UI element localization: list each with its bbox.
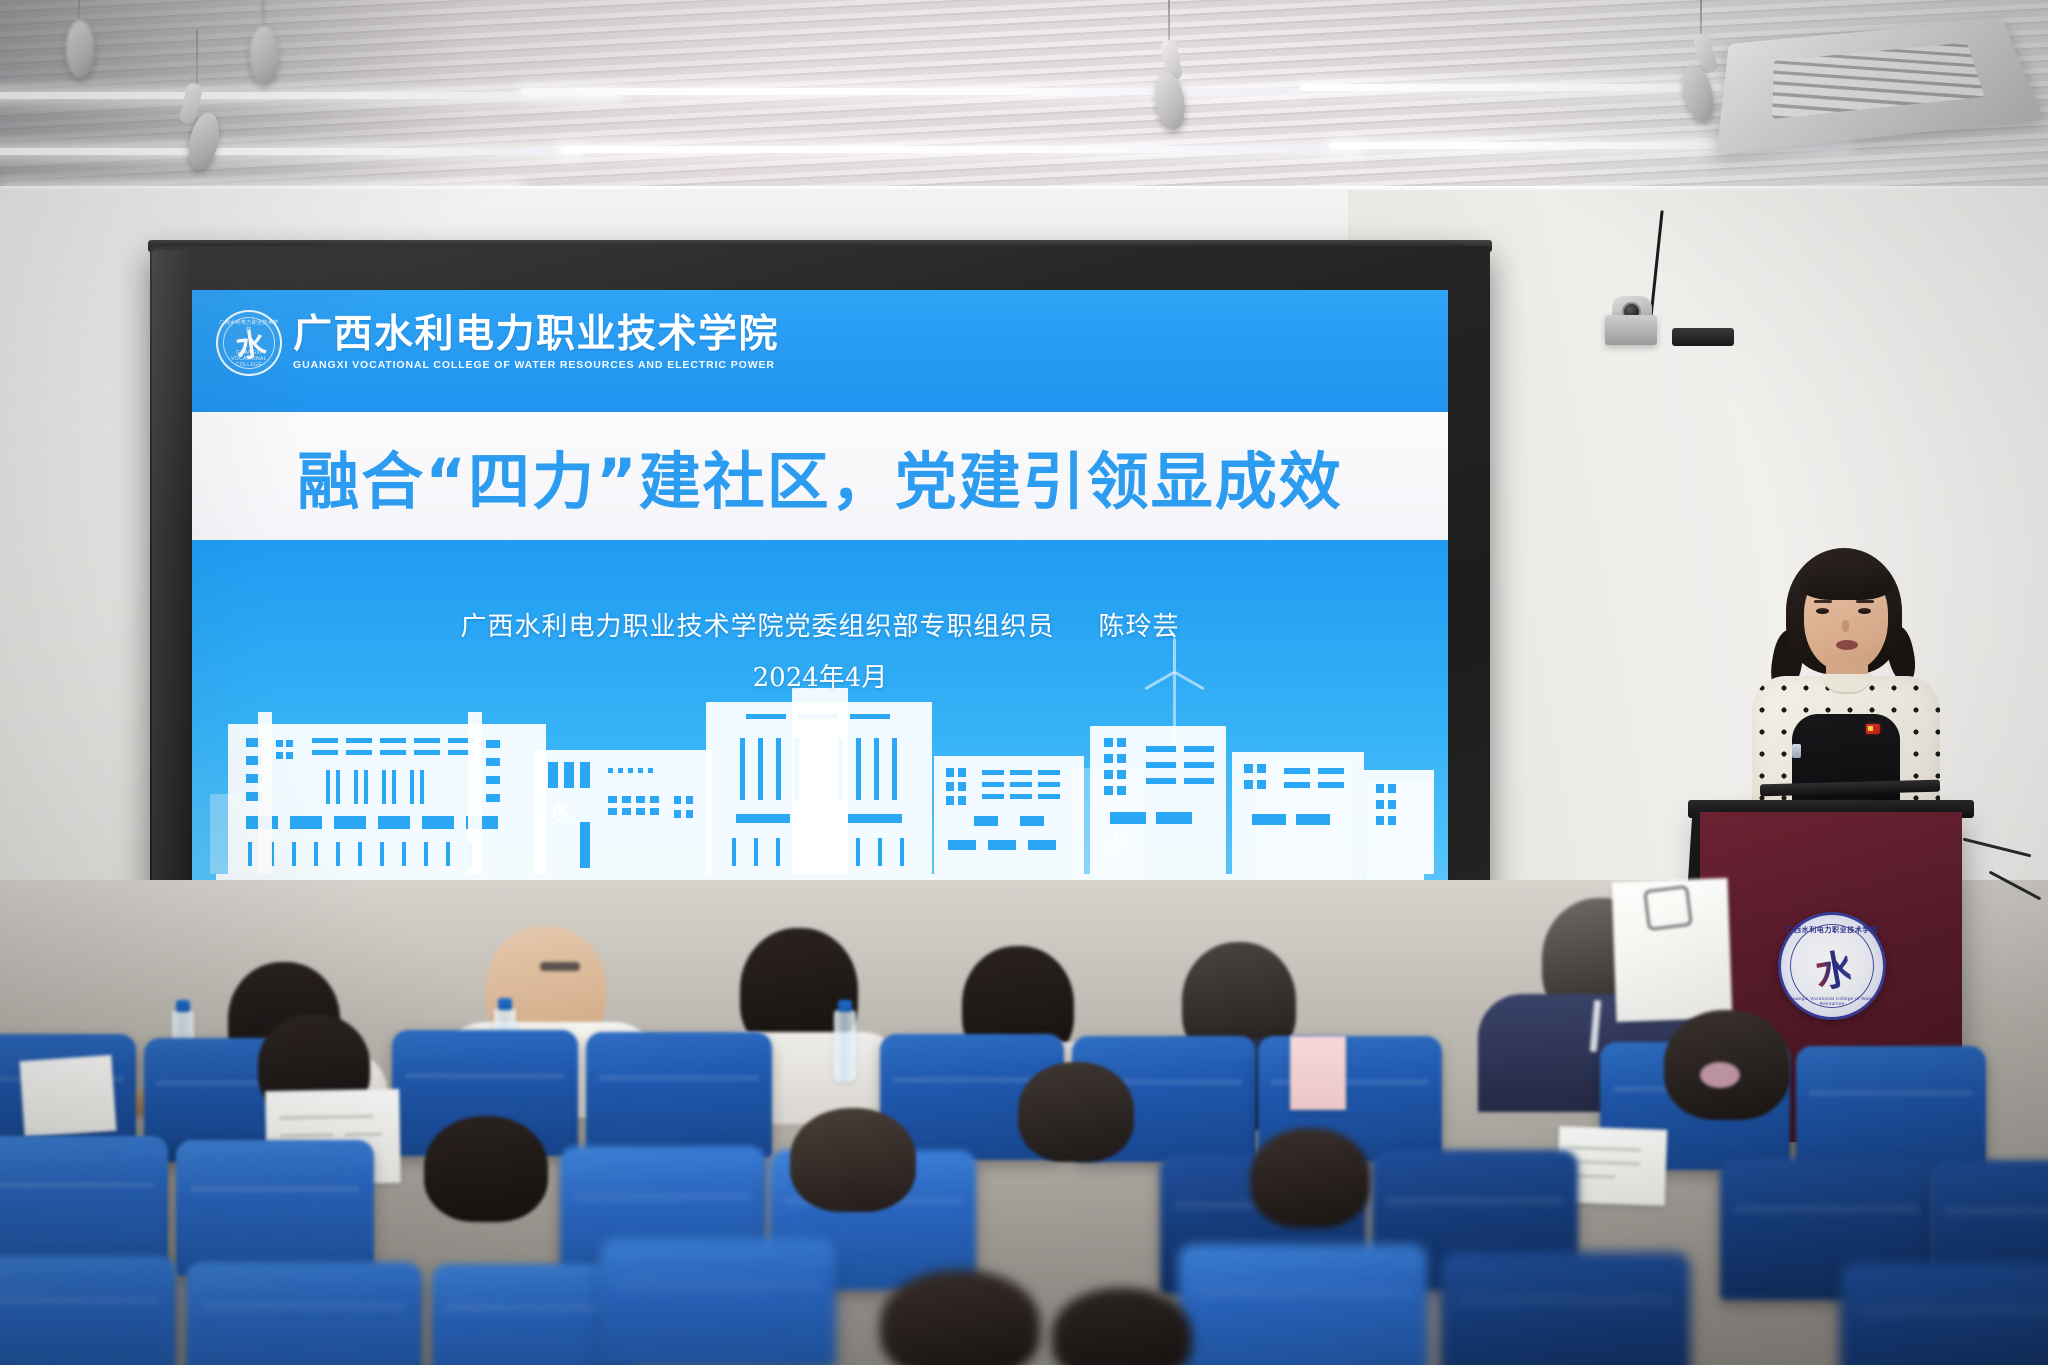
handout-paper (19, 1055, 116, 1137)
party-emblem-pin-icon (1866, 724, 1880, 734)
presenter-person (1742, 548, 1950, 816)
drawing-outline (1644, 885, 1693, 930)
eye (1858, 608, 1871, 614)
hanging-speaker (66, 20, 94, 78)
mouth (1836, 640, 1858, 650)
building-logo-glyph: 水 (1104, 825, 1126, 859)
campus-building (228, 724, 546, 874)
auditorium-seat[interactable] (0, 1136, 168, 1272)
ceiling-strip-light (560, 146, 1360, 153)
campus-building: 水 (1090, 726, 1226, 874)
campus-building (1232, 752, 1364, 874)
campus-building: 水 (534, 750, 712, 874)
display-glare (152, 250, 192, 918)
nose (1842, 620, 1849, 632)
school-seal-icon: 广西水利电力职业技术学院 水 GUANGXI VOCATIONAL COLLEG… (216, 310, 282, 376)
emblem-glyph: 水 (1810, 937, 1854, 1000)
school-name-block: 广西水利电力职业技术学院 GUANGXI VOCATIONAL COLLEGE … (293, 315, 779, 371)
hair-clip (1700, 1062, 1740, 1088)
lecture-hall-scene: 水 (0, 0, 2048, 1365)
presentation-slide: 水 (192, 290, 1448, 888)
slide-subtitle-block: 广西水利电力职业技术学院党委组织部专职组织员陈玲芸 2024年4月 (192, 606, 1448, 694)
campus-skyline-illustration: 水 (192, 662, 1448, 888)
auditorium-seat[interactable] (600, 1238, 836, 1365)
roof-turret (258, 712, 272, 874)
lapel-microphone-icon (1792, 744, 1801, 758)
hanging-speaker (250, 26, 278, 84)
pendant-wire (1168, 0, 1170, 44)
seal-arc-bottom-text: GUANGXI VOCATIONAL COLLEGE (218, 350, 280, 368)
ceiling-strip-light (0, 148, 580, 155)
emblem-arc-en-text: Guangxi Vocational College of Water Reso… (1781, 996, 1883, 1006)
eye (1816, 608, 1829, 614)
water-bottle (834, 1010, 856, 1082)
auditorium-seat[interactable] (1440, 1252, 1690, 1365)
attendee-head (1250, 1128, 1370, 1228)
slide-brand-header: 广西水利电力职业技术学院 水 GUANGXI VOCATIONAL COLLEG… (216, 310, 779, 376)
auditorium-seat[interactable] (586, 1032, 772, 1158)
hall-roof-peak (792, 688, 848, 874)
eyeglasses-icon (540, 962, 580, 971)
colored-paper (1290, 1036, 1346, 1110)
roof-turret (468, 712, 482, 874)
ceiling-microphone-bar (1672, 328, 1734, 346)
building-logo-glyph: 水 (546, 793, 568, 827)
slide-title-text: 融合“四力”建社区，党建引领显成效 (297, 431, 1343, 521)
auditorium-seat[interactable] (0, 1256, 176, 1365)
slatted-ceiling (0, 0, 2048, 196)
presenter-affiliation: 广西水利电力职业技术学院党委组织部专职组织员 (460, 612, 1054, 642)
ptz-camera-mount (1605, 315, 1657, 345)
eyebrow (1814, 600, 1832, 603)
college-emblem-icon: 广西水利电力职业技术学院 水 Guangxi Vocational Colleg… (1778, 912, 1886, 1020)
campus-building (1364, 770, 1434, 874)
slide-date: 2024年4月 (192, 657, 1448, 694)
auditorium-seat[interactable] (176, 1140, 374, 1276)
auditorium-seat[interactable] (1840, 1262, 2048, 1365)
auditorium-seat[interactable] (186, 1262, 422, 1365)
school-name-en: GUANGXI VOCATIONAL COLLEGE OF WATER RESO… (293, 359, 779, 371)
pendant-wire (196, 30, 198, 88)
auditorium-seat[interactable] (1178, 1244, 1428, 1365)
emblem-arc-cn-text: 广西水利电力职业技术学院 (1781, 925, 1883, 935)
school-name-cn: 广西水利电力职业技术学院 (293, 315, 779, 355)
campus-building (934, 756, 1084, 874)
auditorium-seat[interactable] (1796, 1046, 1986, 1174)
eyebrow (1856, 600, 1874, 603)
slide-title-row: 融合“四力”建社区，党建引领显成效 (192, 412, 1448, 540)
attendee-head (880, 1270, 1040, 1365)
attendee-head (424, 1116, 548, 1222)
attendee-head (790, 1108, 916, 1212)
presenter-name: 陈玲芸 (1099, 612, 1180, 642)
presenter-line: 广西水利电力职业技术学院党委组织部专职组织员陈玲芸 (192, 606, 1448, 643)
attendee-head (1018, 1062, 1134, 1162)
hair-fringe (1800, 560, 1892, 600)
